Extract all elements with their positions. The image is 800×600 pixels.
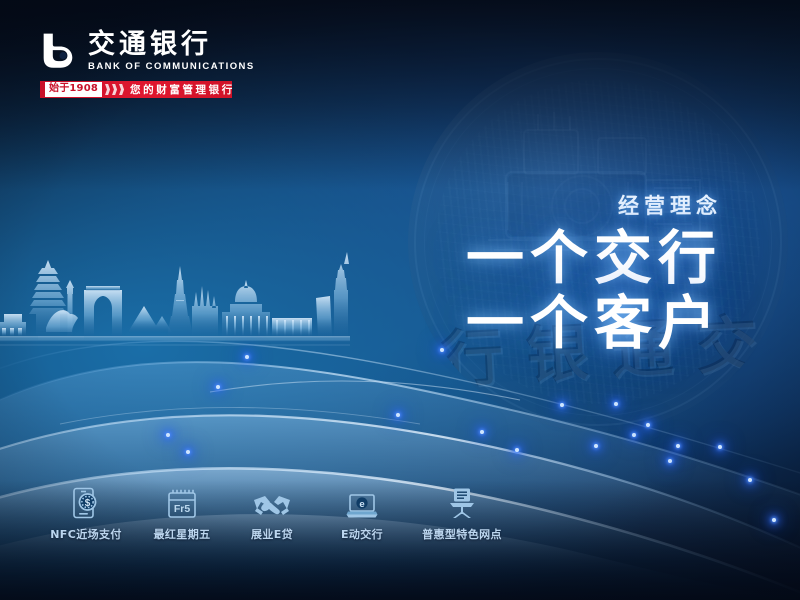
sparkle-dot — [632, 433, 636, 437]
tagline-chevrons-icon — [105, 84, 126, 95]
feature-item-red-friday[interactable]: Fr5 最红星期五 — [146, 485, 218, 542]
svg-text:Fr5: Fr5 — [174, 503, 191, 515]
brand-tagline-bar: 始于1908 您的财富管理银行 — [40, 81, 232, 98]
world-landmarks-skyline — [0, 236, 350, 356]
bocom-logo-mark-icon — [40, 30, 79, 69]
sparkle-dot — [614, 402, 618, 406]
brand-name-en: BANK OF COMMUNICATIONS — [88, 62, 255, 71]
feature-item-inclusive-branch[interactable]: 普惠型特色网点 — [416, 485, 508, 542]
tagline-badge: 始于1908 — [45, 82, 102, 98]
sparkle-dot — [186, 450, 190, 454]
sparkle-dot — [480, 430, 484, 434]
sparkle-dot — [718, 445, 722, 449]
poster-canvas: 行 银 通 交 — [0, 0, 800, 600]
sparkle-dot — [216, 385, 220, 389]
feature-label: 展业E贷 — [251, 526, 293, 542]
feature-label: NFC近场支付 — [50, 526, 122, 542]
sparkle-dot — [676, 444, 680, 448]
sparkle-dot — [772, 518, 776, 522]
brand-name-cn: 交通银行 — [88, 31, 251, 59]
feature-item-eloan[interactable]: 展业E贷 — [236, 485, 308, 542]
brand-logo-block: 交通银行 BANK OF COMMUNICATIONS 始于1908 您的财富管… — [40, 30, 240, 98]
slogan-eyebrow: 经营理念 — [466, 190, 722, 220]
sparkle-dot — [646, 423, 650, 427]
calendar-fri5-icon: Fr5 — [167, 485, 197, 519]
tagline-text: 您的财富管理银行 — [130, 82, 232, 97]
feature-label: 最红星期五 — [154, 526, 211, 542]
phone-coin-icon: $ — [72, 485, 100, 519]
handshake-icon — [253, 485, 291, 519]
feature-label: 普惠型特色网点 — [422, 526, 502, 542]
sparkle-dot — [515, 448, 519, 452]
sparkle-dot — [166, 433, 170, 437]
feature-label: E动交行 — [341, 526, 383, 542]
feature-item-nfc-payment[interactable]: $ NFC近场支付 — [44, 485, 128, 542]
sparkle-dot — [748, 478, 752, 482]
sparkle-dot — [560, 403, 564, 407]
svg-text:$: $ — [85, 498, 91, 509]
slogan-line-2: 一个客户 — [466, 291, 722, 356]
svg-text:e: e — [359, 499, 364, 510]
sparkle-dot — [440, 348, 444, 352]
sparkle-dot — [245, 355, 249, 359]
slogan-line-1: 一个交行 — [466, 226, 722, 291]
laptop-e-icon: e — [345, 485, 379, 519]
sparkle-dot — [668, 459, 672, 463]
slogan-block: 经营理念 一个交行 一个客户 — [466, 190, 722, 356]
sparkle-dot — [396, 413, 400, 417]
service-chair-icon — [448, 485, 476, 519]
feature-strip: $ NFC近场支付 Fr5 最红星期五 — [44, 485, 508, 542]
feature-item-e-bocom[interactable]: e E动交行 — [326, 485, 398, 542]
sparkle-dot — [594, 444, 598, 448]
